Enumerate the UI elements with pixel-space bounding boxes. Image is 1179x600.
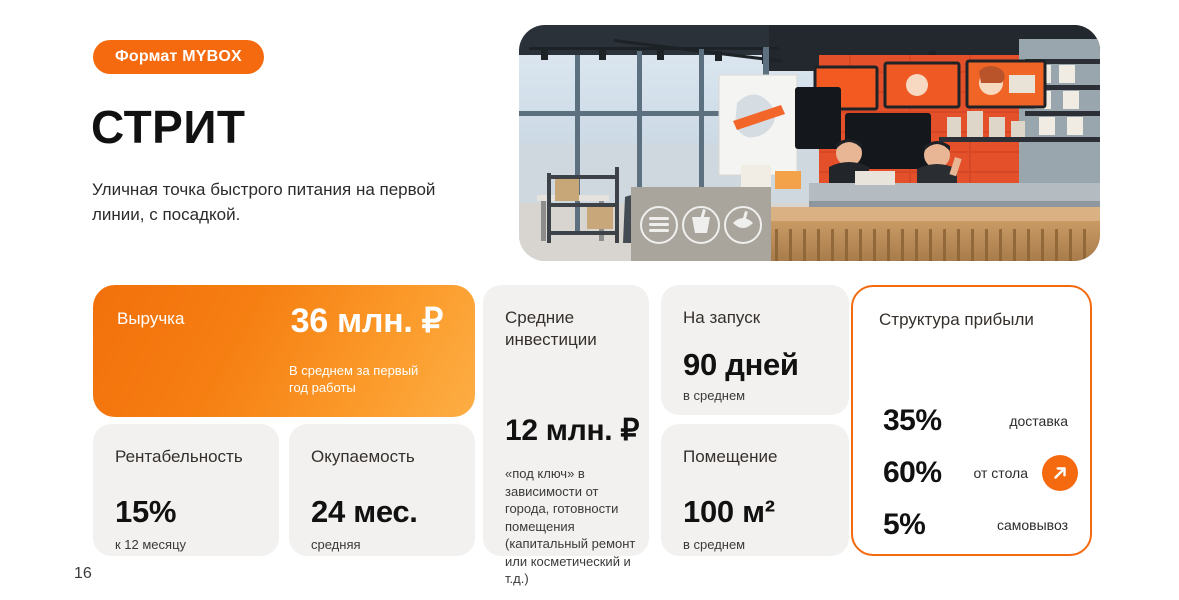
- profit-structure-rows: 35% доставка 60% от стола 5% самовывоз: [853, 395, 1090, 551]
- payback-label: Окупаемость: [311, 446, 415, 468]
- payback-value: 24 мес.: [311, 494, 418, 530]
- profit-structure-row: 60% от стола: [853, 447, 1090, 499]
- premises-value: 100 м²: [683, 494, 775, 530]
- profit-structure-percent: 5%: [883, 508, 925, 542]
- format-badge: Формат MYBOX: [93, 40, 264, 74]
- page-number: 16: [74, 565, 92, 583]
- interior-photo: [519, 25, 1100, 261]
- payback-card: Окупаемость 24 мес. средняя: [289, 424, 475, 556]
- interior-photo-illustration: [519, 25, 1100, 261]
- profit-structure-name: самовывоз: [997, 517, 1068, 533]
- launch-card: На запуск 90 дней в среднем: [661, 285, 849, 415]
- page-subtitle: Уличная точка быстрого питания на первой…: [92, 178, 467, 227]
- investments-note: «под ключ» в зависимости от города, гото…: [505, 465, 637, 588]
- investments-card: Средние инвестиции 12 млн. ₽ «под ключ» …: [483, 285, 649, 556]
- launch-value: 90 дней: [683, 347, 799, 383]
- profit-structure-name: от стола: [974, 465, 1028, 481]
- revenue-note: В среднем за первый год работы: [289, 362, 439, 397]
- premises-label: Помещение: [683, 446, 777, 468]
- profit-structure-row: 5% самовывоз: [853, 499, 1090, 551]
- page-title: СТРИТ: [91, 100, 246, 154]
- arrow-up-right-icon[interactable]: [1042, 455, 1078, 491]
- payback-note: средняя: [311, 536, 361, 554]
- profit-structure-percent: 60%: [883, 456, 942, 490]
- profitability-card: Рентабельность 15% к 12 месяцу: [93, 424, 279, 556]
- profitability-value: 15%: [115, 494, 176, 530]
- profitability-label: Рентабельность: [115, 446, 243, 468]
- launch-note: в среднем: [683, 387, 745, 405]
- revenue-card: Выручка 36 млн. ₽ В среднем за первый го…: [93, 285, 475, 417]
- investments-value: 12 млн. ₽: [505, 413, 639, 448]
- profitability-note: к 12 месяцу: [115, 536, 186, 554]
- premises-card: Помещение 100 м² в среднем: [661, 424, 849, 556]
- profit-structure-percent: 35%: [883, 404, 942, 438]
- profit-structure-name: доставка: [1009, 413, 1068, 429]
- slide: Формат MYBOX СТРИТ Уличная точка быстрог…: [0, 0, 1179, 600]
- launch-label: На запуск: [683, 307, 760, 329]
- premises-note: в среднем: [683, 536, 745, 554]
- profit-structure-label: Структура прибыли: [879, 309, 1034, 331]
- format-badge-label: Формат MYBOX: [115, 48, 242, 66]
- investments-label: Средние инвестиции: [505, 307, 649, 351]
- revenue-value: 36 млн. ₽: [291, 301, 443, 341]
- profit-structure-row: 35% доставка: [853, 395, 1090, 447]
- profit-structure-card: Структура прибыли 35% доставка 60% от ст…: [851, 285, 1092, 556]
- revenue-label: Выручка: [117, 309, 184, 329]
